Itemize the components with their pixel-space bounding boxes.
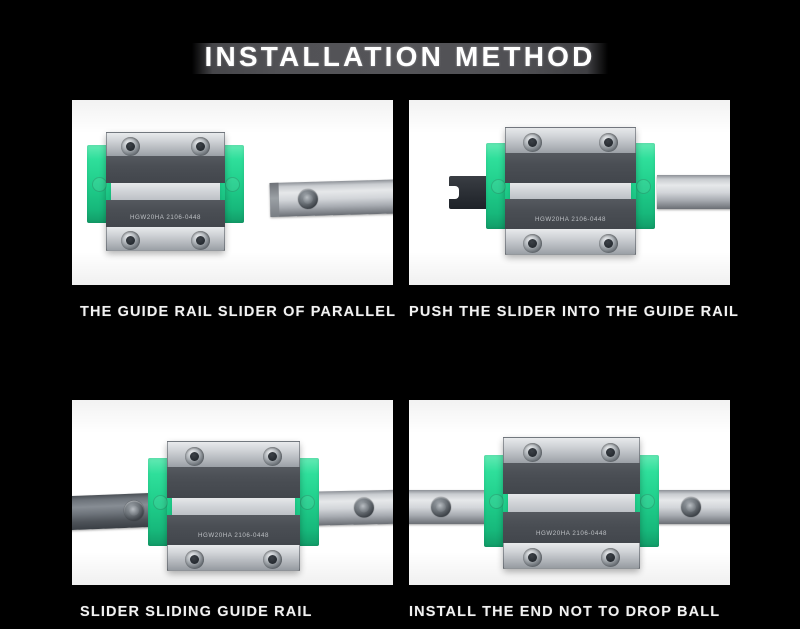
step-card-3: HGW20HA 2106-0448 SLIDER SLIDING GUIDE R… (72, 400, 393, 620)
block-body-upper (167, 467, 300, 497)
block-body-upper (106, 156, 225, 183)
block-body-upper (505, 153, 636, 182)
step-caption-1: THE GUIDE RAIL SLIDER OF PARALLEL (72, 304, 393, 320)
guide-rail-segment (270, 179, 393, 217)
end-cap-grease-nipple-icon (153, 495, 168, 510)
part-number-label: HGW20HA 2106-0448 (198, 532, 269, 539)
step-caption-2: PUSH THE SLIDER INTO THE GUIDE RAIL (409, 304, 730, 320)
rail-mounting-hole (124, 500, 145, 521)
carriage-block-4: HGW20HA 2106-0448 (503, 437, 640, 569)
block-center-stripe (106, 183, 225, 199)
end-cap-grease-nipple-icon (640, 494, 655, 509)
block-mounting-hole (263, 447, 282, 466)
block-mounting-hole (523, 548, 542, 567)
block-top-plate (106, 132, 225, 156)
installation-steps-grid: HGW20HA 2106-0448 THE GUIDE RAIL SLIDER … (72, 100, 730, 620)
block-bottom-plate (167, 545, 300, 571)
end-cap-grease-nipple-icon (225, 177, 240, 192)
step-photo-2: HGW20HA 2106-0448 (409, 100, 730, 285)
step-card-4: HGW20HA 2106-0448 INSTALL THE END NOT TO… (409, 400, 730, 620)
block-center-stripe (505, 183, 636, 200)
block-body-lower: HGW20HA 2106-0448 (106, 200, 225, 227)
block-body-upper (503, 463, 640, 494)
block-center-stripe (167, 498, 300, 515)
step-caption-3: SLIDER SLIDING GUIDE RAIL (72, 604, 393, 620)
block-mounting-hole (523, 133, 542, 152)
step-card-1: HGW20HA 2106-0448 THE GUIDE RAIL SLIDER … (72, 100, 393, 320)
step-caption-4: INSTALL THE END NOT TO DROP BALL (409, 604, 730, 620)
rail-mounting-hole (298, 189, 319, 210)
block-mounting-hole (263, 550, 282, 569)
step-card-2: HGW20HA 2106-0448 PUSH THE SLIDER INTO T… (409, 100, 730, 320)
step-photo-1: HGW20HA 2106-0448 (72, 100, 393, 285)
title-backdrop-bar: INSTALLATION METHOD (192, 43, 608, 74)
end-cap-grease-nipple-icon (300, 495, 315, 510)
block-bottom-plate (505, 229, 636, 255)
part-number-label: HGW20HA 2106-0448 (536, 530, 607, 537)
block-mounting-hole (523, 443, 542, 462)
end-cap-grease-nipple-icon (491, 179, 506, 194)
block-mounting-hole (523, 234, 542, 253)
block-body-lower: HGW20HA 2106-0448 (167, 515, 300, 545)
block-bottom-plate (503, 543, 640, 569)
end-cap-grease-nipple-icon (636, 179, 651, 194)
block-mounting-hole (185, 550, 204, 569)
block-top-plate (505, 127, 636, 153)
guide-rail-segment (657, 175, 730, 209)
rail-mounting-hole (681, 497, 701, 517)
block-mounting-hole (121, 137, 140, 156)
block-body-lower: HGW20HA 2106-0448 (503, 512, 640, 543)
block-center-stripe (503, 494, 640, 512)
rail-mounting-hole (431, 497, 451, 517)
end-cap-grease-nipple-icon (489, 494, 504, 509)
block-body-lower: HGW20HA 2106-0448 (505, 199, 636, 228)
end-cap-grease-nipple-icon (92, 177, 107, 192)
block-mounting-hole (121, 231, 140, 250)
part-number-label: HGW20HA 2106-0448 (130, 214, 201, 221)
block-mounting-hole (191, 137, 210, 156)
block-mounting-hole (601, 443, 620, 462)
block-mounting-hole (185, 447, 204, 466)
block-mounting-hole (191, 231, 210, 250)
rail-end-seal-notch-icon (449, 186, 459, 199)
part-number-label: HGW20HA 2106-0448 (535, 216, 606, 223)
rail-cut-end (270, 183, 280, 217)
block-bottom-plate (106, 227, 225, 251)
step-photo-4: HGW20HA 2106-0448 (409, 400, 730, 585)
block-top-plate (167, 441, 300, 467)
step-photo-3: HGW20HA 2106-0448 (72, 400, 393, 585)
block-top-plate (503, 437, 640, 463)
carriage-block-1: HGW20HA 2106-0448 (106, 132, 225, 251)
block-mounting-hole (599, 133, 618, 152)
block-mounting-hole (601, 548, 620, 567)
carriage-block-3: HGW20HA 2106-0448 (167, 441, 300, 571)
rail-mounting-hole (354, 497, 374, 517)
block-mounting-hole (599, 234, 618, 253)
carriage-block-2: HGW20HA 2106-0448 (505, 127, 636, 255)
page-title: INSTALLATION METHOD (204, 43, 595, 71)
page-header: INSTALLATION METHOD (0, 30, 800, 86)
